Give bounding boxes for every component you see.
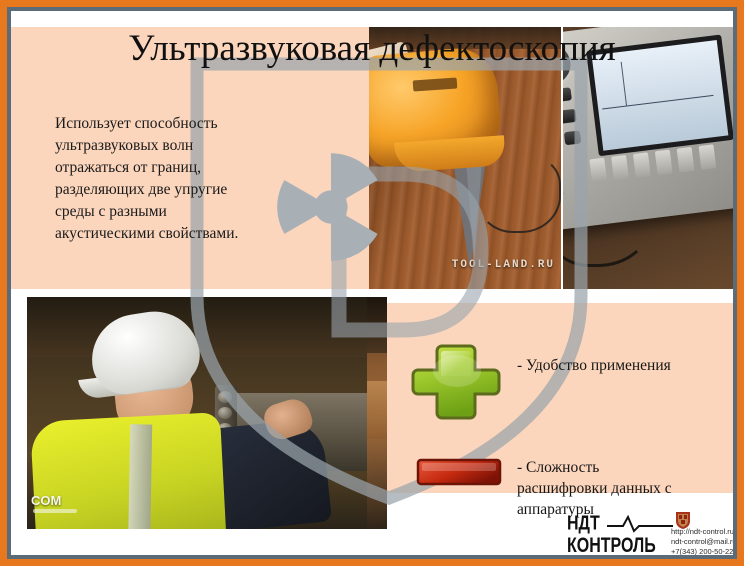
logo-line-ndt: НДТ — [567, 513, 600, 536]
red-minus-icon — [415, 457, 503, 487]
page-title: Ультразвуковая дефектоскопия — [11, 27, 733, 70]
function-key — [655, 150, 673, 176]
vest-logo-text: COM — [31, 493, 61, 508]
bolt — [218, 407, 232, 419]
disadvantage-line: - Сложность — [517, 457, 717, 478]
footer-logo-block: НДТ КОНТРОЛЬ http://ndt-control.ru ndt-c… — [567, 513, 733, 555]
logo-line-kontrol: КОНТРОЛЬ — [567, 535, 656, 555]
contact-website: http://ndt-control.ru — [671, 527, 733, 537]
ndt-kontrol-logo: НДТ КОНТРОЛЬ — [567, 513, 675, 555]
description-line: среды с разными — [55, 201, 345, 223]
advantage-bullet: - Удобство применения — [517, 355, 733, 376]
function-key — [633, 152, 651, 178]
keypad-button — [564, 130, 581, 145]
description-line: разделяющих две упругие — [55, 179, 345, 201]
contact-info: http://ndt-control.ru ndt-control@mail.r… — [671, 527, 733, 555]
description-line: акустическими свойствами. — [55, 223, 345, 245]
waveform-icon — [607, 515, 673, 533]
disadvantage-line: расшифровки данных с — [517, 478, 717, 499]
a-scan-trace — [602, 95, 713, 110]
description-text: Использует способность ультразвуковых во… — [55, 113, 345, 245]
slide-inner-border: TOOL-LAND.RU OLYMPUS — [7, 7, 737, 559]
advantage-line: - Удобство применения — [517, 355, 733, 376]
vest-reflective-stripe — [128, 424, 152, 529]
inspector-at-pipe-photo: COM — [27, 297, 367, 529]
description-line: Использует способность — [55, 113, 345, 135]
green-plus-icon — [411, 341, 501, 423]
function-key — [698, 144, 716, 170]
description-line: отражаться от границ, — [55, 157, 345, 179]
function-key — [677, 147, 695, 173]
tool-land-watermark: TOOL-LAND.RU — [452, 259, 555, 271]
contact-email: ndt-control@mail.ru — [671, 537, 733, 547]
keypad-button — [563, 109, 577, 124]
slide-frame: TOOL-LAND.RU OLYMPUS — [0, 0, 744, 566]
bolt — [218, 391, 232, 403]
slide-canvas: TOOL-LAND.RU OLYMPUS — [11, 11, 733, 555]
vest-logo-underline — [33, 509, 77, 513]
keypad-button — [563, 87, 572, 102]
description-line: ультразвуковых волн — [55, 135, 345, 157]
contact-phone: +7(343) 200-50-22 — [671, 547, 733, 555]
